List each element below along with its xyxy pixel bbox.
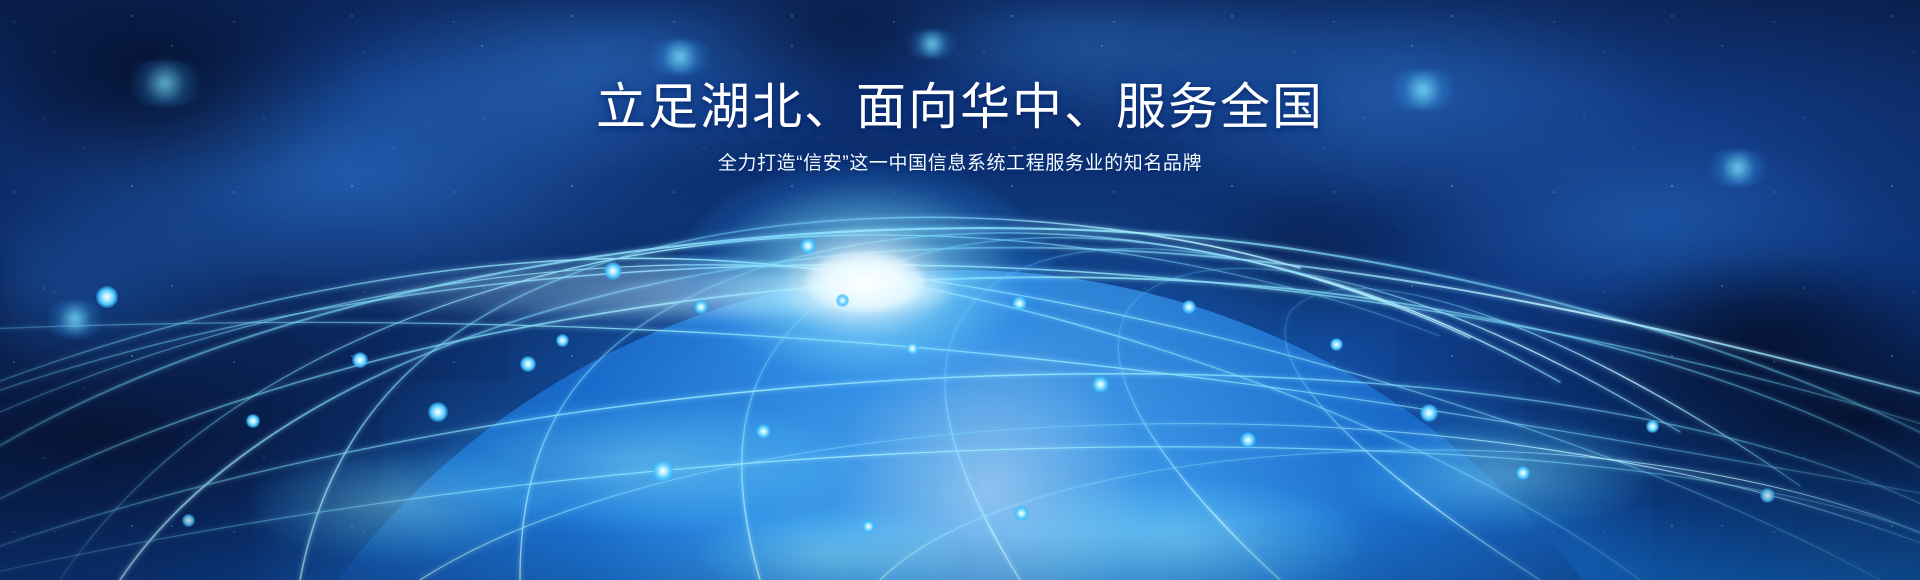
banner-subheadline: 全力打造“信安”这一中国信息系统工程服务业的知名品牌 — [0, 154, 1920, 173]
banner-headline: 立足湖北、面向华中、服务全国 — [0, 82, 1920, 132]
hero-banner: 立足湖北、面向华中、服务全国 全力打造“信安”这一中国信息系统工程服务业的知名品… — [0, 0, 1920, 580]
banner-text-block: 立足湖北、面向华中、服务全国 全力打造“信安”这一中国信息系统工程服务业的知名品… — [0, 82, 1920, 173]
